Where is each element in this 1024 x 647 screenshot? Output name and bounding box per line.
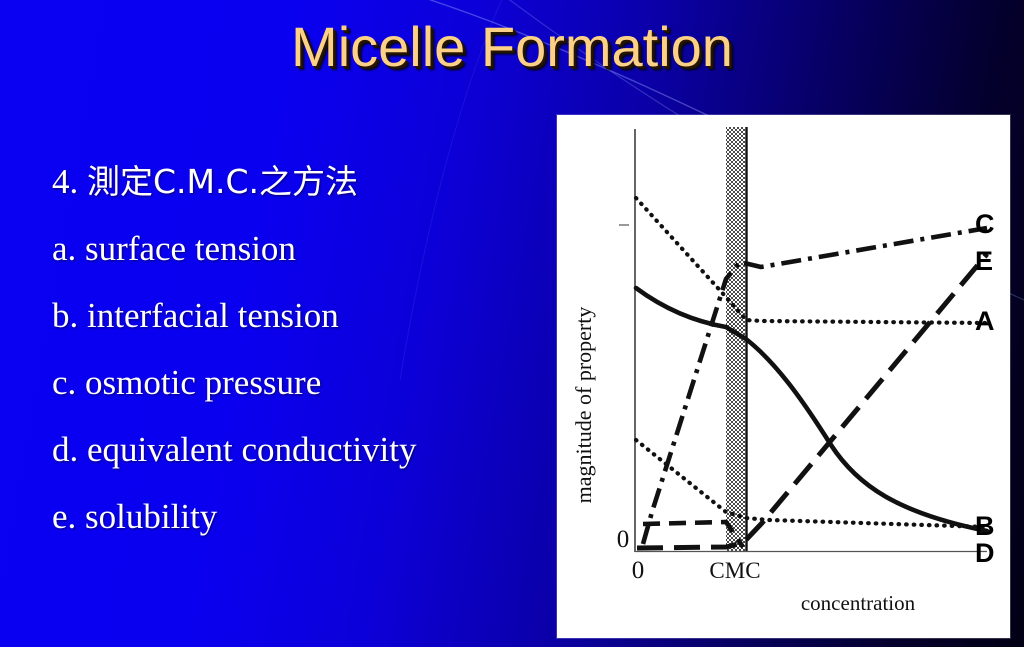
series-label-c: C	[975, 209, 995, 239]
list-item-label: 測定C.M.C.之方法	[87, 162, 358, 201]
cmc-tick-label: CMC	[709, 558, 760, 583]
series-label-e: E	[975, 246, 993, 276]
curve-b	[636, 440, 987, 527]
cmc-property-chart: magnitude of property 0 0 CMC concentrat…	[557, 115, 1010, 638]
curve-c	[643, 228, 987, 544]
bullet-list: 4. 測定C.M.C.之方法 a. surface tension b. int…	[52, 148, 572, 550]
curve-e	[637, 254, 987, 548]
page-title: Micelle Formation	[0, 14, 1024, 79]
list-item-marker: b.	[52, 296, 78, 335]
list-item-marker: a.	[52, 229, 76, 268]
list-item-label: surface tension	[85, 229, 296, 268]
list-item-label: osmotic pressure	[85, 363, 321, 402]
list-item-marker: c.	[52, 363, 76, 402]
list-item: d. equivalent conductivity	[52, 416, 572, 483]
slide: Micelle Formation 4. 測定C.M.C.之方法 a. surf…	[0, 0, 1024, 647]
y-origin-label: 0	[617, 526, 630, 553]
list-item: 4. 測定C.M.C.之方法	[52, 148, 572, 215]
y-axis-title: magnitude of property	[571, 307, 596, 504]
list-item-label: equivalent conductivity	[87, 430, 417, 469]
figure-panel: magnitude of property 0 0 CMC concentrat…	[557, 115, 1010, 638]
list-item-label: solubility	[85, 497, 217, 536]
list-item: a. surface tension	[52, 215, 572, 282]
list-item: b. interfacial tension	[52, 282, 572, 349]
list-item-label: interfacial tension	[87, 296, 339, 335]
list-item: c. osmotic pressure	[52, 349, 572, 416]
series-label-a: A	[975, 306, 995, 336]
series-label-b: B	[975, 511, 995, 541]
x-origin-label: 0	[632, 557, 645, 584]
curve-d	[636, 288, 987, 531]
x-axis-title: concentration	[801, 591, 916, 615]
list-item-marker: e.	[52, 497, 76, 536]
list-item-marker: 4.	[52, 162, 78, 201]
series-label-d: D	[975, 538, 995, 568]
list-item: e. solubility	[52, 483, 572, 550]
list-item-marker: d.	[52, 430, 78, 469]
